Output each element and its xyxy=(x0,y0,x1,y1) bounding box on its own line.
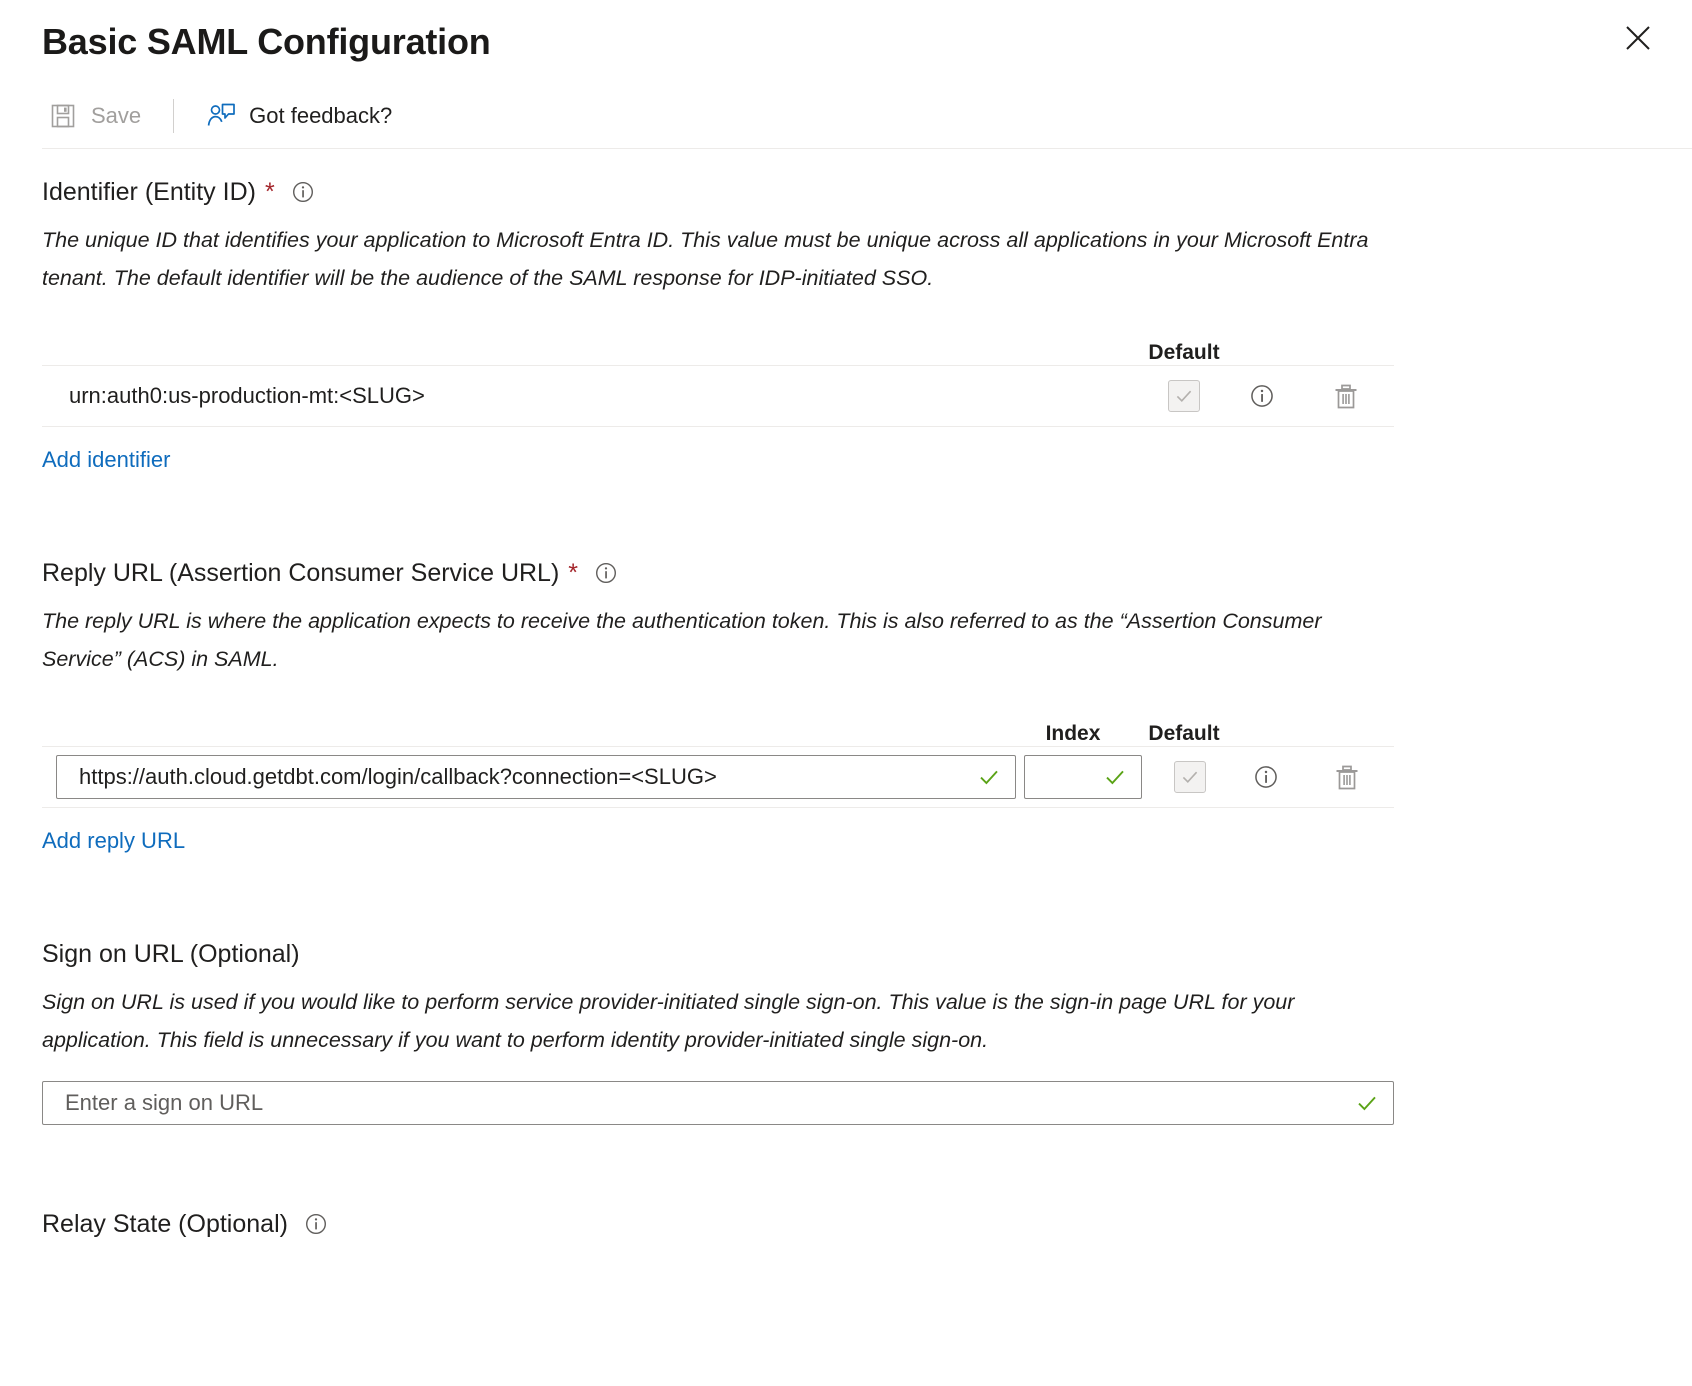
reply-url-heading: Reply URL (Assertion Consumer Service UR… xyxy=(42,558,1650,588)
trash-icon[interactable] xyxy=(1333,762,1361,792)
save-label: Save xyxy=(91,105,141,127)
sign-on-url-heading-label: Sign on URL (Optional) xyxy=(42,939,300,969)
reply-url-input[interactable]: https://auth.cloud.getdbt.com/login/call… xyxy=(56,755,1016,799)
close-button[interactable] xyxy=(1616,18,1660,62)
add-identifier-link[interactable]: Add identifier xyxy=(42,446,170,474)
required-asterisk: * xyxy=(265,177,275,207)
info-icon[interactable] xyxy=(594,561,618,585)
add-reply-url-link[interactable]: Add reply URL xyxy=(42,827,185,855)
page-title: Basic SAML Configuration xyxy=(42,18,1652,66)
section-spacer xyxy=(42,855,1650,911)
identifier-table: Default urn:auth0:us-production-mt:<SLUG… xyxy=(42,323,1394,427)
sign-on-url-placeholder: Enter a sign on URL xyxy=(43,1091,1355,1115)
table-row: https://auth.cloud.getdbt.com/login/call… xyxy=(42,746,1394,808)
save-disk-icon xyxy=(48,101,78,131)
identifier-heading-label: Identifier (Entity ID) xyxy=(42,177,256,207)
sign-on-url-description: Sign on URL is used if you would like to… xyxy=(42,983,1372,1059)
got-feedback-label: Got feedback? xyxy=(249,105,392,127)
save-button[interactable]: Save xyxy=(42,94,147,138)
panel-content: Identifier (Entity ID) * The unique ID t… xyxy=(0,177,1692,1239)
toolbar-divider xyxy=(173,99,174,133)
reply-url-table-header: Index Default xyxy=(42,704,1394,746)
identifier-section: Identifier (Entity ID) * The unique ID t… xyxy=(42,177,1650,474)
reply-url-heading-label: Reply URL (Assertion Consumer Service UR… xyxy=(42,558,559,588)
info-icon[interactable] xyxy=(1253,764,1279,790)
identifier-value[interactable]: urn:auth0:us-production-mt:<SLUG> xyxy=(42,381,1142,411)
section-spacer xyxy=(42,474,1650,530)
reply-url-index-input[interactable] xyxy=(1024,755,1142,799)
column-header-default: Default xyxy=(1142,722,1226,746)
info-icon[interactable] xyxy=(304,1212,328,1236)
command-bar: Save Got feedback? xyxy=(0,84,1692,148)
relay-state-heading: Relay State (Optional) xyxy=(42,1209,1650,1239)
got-feedback-button[interactable]: Got feedback? xyxy=(200,94,398,138)
sign-on-url-input[interactable]: Enter a sign on URL xyxy=(42,1081,1394,1125)
trash-icon[interactable] xyxy=(1332,381,1360,411)
reply-url-default-checkbox[interactable] xyxy=(1174,761,1206,793)
info-icon[interactable] xyxy=(291,180,315,204)
column-header-default: Default xyxy=(1142,341,1226,365)
table-row: urn:auth0:us-production-mt:<SLUG> xyxy=(42,365,1394,427)
feedback-person-icon xyxy=(206,101,236,131)
sign-on-url-heading: Sign on URL (Optional) xyxy=(42,939,1650,969)
reply-url-input-value: https://auth.cloud.getdbt.com/login/call… xyxy=(57,765,977,789)
relay-state-heading-label: Relay State (Optional) xyxy=(42,1209,288,1239)
identifier-default-checkbox[interactable] xyxy=(1168,380,1200,412)
panel-header: Basic SAML Configuration xyxy=(0,0,1692,66)
section-spacer xyxy=(42,1125,1650,1181)
valid-check-icon xyxy=(1355,1091,1393,1115)
identifier-table-header: Default xyxy=(42,323,1394,365)
reply-url-table: Index Default https://auth.cloud.getdbt.… xyxy=(42,704,1394,808)
reply-url-section: Reply URL (Assertion Consumer Service UR… xyxy=(42,558,1650,855)
identifier-heading: Identifier (Entity ID) * xyxy=(42,177,1650,207)
relay-state-section: Relay State (Optional) xyxy=(42,1209,1650,1239)
column-header-index: Index xyxy=(1004,722,1142,746)
close-icon xyxy=(1623,23,1653,58)
info-icon[interactable] xyxy=(1249,383,1275,409)
toolbar-bottom-divider xyxy=(42,148,1692,149)
sign-on-url-section: Sign on URL (Optional) Sign on URL is us… xyxy=(42,939,1650,1125)
valid-check-icon xyxy=(1103,765,1141,789)
identifier-description: The unique ID that identifies your appli… xyxy=(42,221,1372,297)
reply-url-description: The reply URL is where the application e… xyxy=(42,602,1372,678)
valid-check-icon xyxy=(977,765,1015,789)
required-asterisk: * xyxy=(568,558,578,588)
